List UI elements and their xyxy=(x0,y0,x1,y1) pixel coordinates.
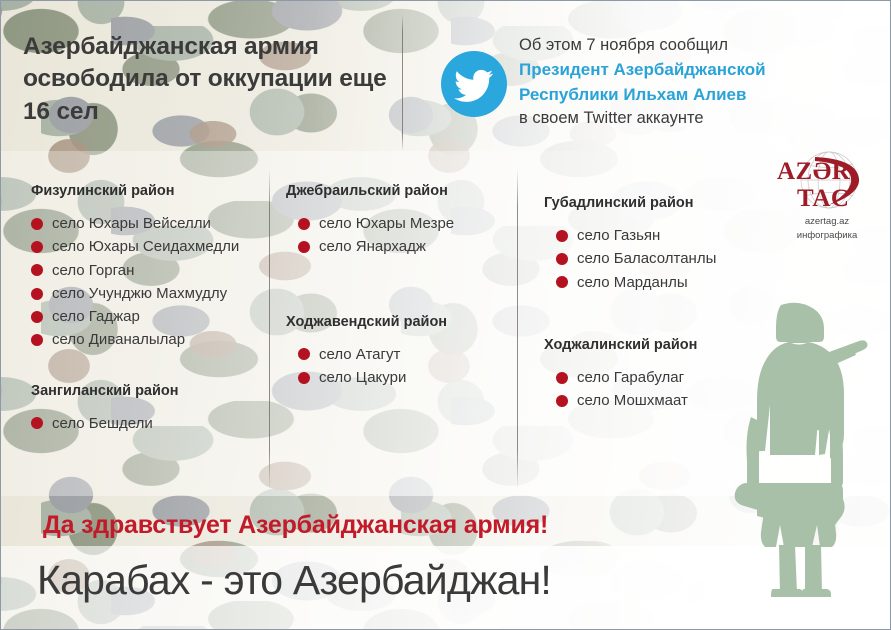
bullet-dot-icon xyxy=(31,218,43,230)
village-name: село Учунджю Махмудлу xyxy=(52,283,227,304)
tweet-highlight-line-2: Республики Ильхам Алиев xyxy=(519,83,869,108)
bullet-dot-icon xyxy=(298,348,310,360)
tweet-line-2: в своем Twitter аккаунте xyxy=(519,109,704,127)
bullet-dot-icon xyxy=(556,395,568,407)
bullet-dot-icon xyxy=(31,288,43,300)
village-name: село Газьян xyxy=(577,225,660,246)
village-list: село Бешдели xyxy=(31,413,269,434)
village-name: село Гаджар xyxy=(52,306,140,327)
village-list: село Юхары Мезре село Янархадж xyxy=(286,213,516,258)
list-item: село Атагут xyxy=(286,344,516,365)
district-block-zangilan: Зангиланский район село Бешдели xyxy=(31,383,269,434)
bullet-dot-icon xyxy=(31,311,43,323)
column-divider-2 xyxy=(517,169,518,489)
svg-text:TAC: TAC xyxy=(797,185,849,212)
bullet-dot-icon xyxy=(31,334,43,346)
list-item: село Гаджар xyxy=(31,306,269,327)
list-item: село Баласолтанлы xyxy=(544,248,784,269)
list-item: село Янархадж xyxy=(286,236,516,257)
village-name: село Гарабулаг xyxy=(577,367,684,388)
svg-text:AZƏR: AZƏR xyxy=(777,158,851,185)
village-name: село Диваналылар xyxy=(52,329,185,350)
district-block-jabrayil: Джебраильский район село Юхары Мезре сел… xyxy=(286,183,516,258)
village-name: село Цакури xyxy=(319,367,406,388)
list-item: село Горган xyxy=(31,260,269,281)
infographic-poster: Азербайджанская армия освободила от окку… xyxy=(0,0,891,630)
bullet-dot-icon xyxy=(298,372,310,384)
list-item: село Юхары Сеидахмедли xyxy=(31,236,269,257)
village-name: село Бешдели xyxy=(52,413,153,434)
village-name: село Атагут xyxy=(319,344,400,365)
district-title: Ходжавендский район xyxy=(286,314,516,330)
list-item: село Учунджю Махмудлу xyxy=(31,283,269,304)
district-title: Губадлинский район xyxy=(544,195,784,211)
list-item: село Юхары Мезре xyxy=(286,213,516,234)
district-column-1: Физулинский район село Юхары Вейселли се… xyxy=(31,183,269,438)
bullet-dot-icon xyxy=(31,264,43,276)
list-item: село Бешдели xyxy=(31,413,269,434)
bullet-dot-icon xyxy=(298,218,310,230)
bullet-dot-icon xyxy=(556,230,568,242)
village-name: село Горган xyxy=(52,260,134,281)
bullet-dot-icon xyxy=(556,276,568,288)
list-item: село Диваналылар xyxy=(31,329,269,350)
twitter-bird-icon xyxy=(438,48,510,120)
village-name: село Марданлы xyxy=(577,272,688,293)
village-name: село Юхары Вейселли xyxy=(52,213,211,234)
slogan-army: Да здравствует Азербайджанская армия! xyxy=(43,511,548,540)
village-list: село Газьян село Баласолтанлы село Марда… xyxy=(544,225,784,293)
column-divider-1 xyxy=(269,169,270,489)
logo-section-label: инфографика xyxy=(771,230,883,243)
bullet-dot-icon xyxy=(556,372,568,384)
list-item: село Марданлы xyxy=(544,272,784,293)
tweet-highlight-line-1: Президент Азербайджанской xyxy=(519,58,869,83)
village-name: село Юхары Сеидахмедли xyxy=(52,236,239,257)
soldier-silhouette xyxy=(723,297,873,597)
slogan-karabakh: Карабах - это Азербайджан! xyxy=(37,557,551,604)
district-title: Джебраильский район xyxy=(286,183,516,199)
list-item: село Газьян xyxy=(544,225,784,246)
district-block-khojavend: Ходжавендский район село Атагут село Цак… xyxy=(286,314,516,389)
bullet-dot-icon xyxy=(31,417,43,429)
district-title: Зангиланский район xyxy=(31,383,269,399)
logo-website: azertag.az xyxy=(771,216,883,229)
village-list: село Атагут село Цакури xyxy=(286,344,516,389)
village-name: село Юхары Мезре xyxy=(319,213,454,234)
bullet-dot-icon xyxy=(556,253,568,265)
village-name: село Янархадж xyxy=(319,236,426,257)
village-list: село Юхары Вейселли село Юхары Сеидахмед… xyxy=(31,213,269,351)
district-title: Физулинский район xyxy=(31,183,269,199)
azertac-logo-mark: AZƏR TAC xyxy=(771,149,883,215)
district-block-fizuli: Физулинский район село Юхары Вейселли се… xyxy=(31,183,269,351)
list-item: село Цакури xyxy=(286,367,516,388)
village-name: село Мошхмаат xyxy=(577,390,688,411)
page-title: Азербайджанская армия освободила от окку… xyxy=(23,31,393,128)
tweet-line-1: Об этом 7 ноября сообщил xyxy=(519,36,728,54)
header-divider xyxy=(402,15,403,151)
district-block-gubadli: Губадлинский район село Газьян село Бала… xyxy=(544,195,784,293)
village-name: село Баласолтанлы xyxy=(577,248,716,269)
azertac-logo: AZƏR TAC azertag.az инфографика xyxy=(771,149,883,243)
bullet-dot-icon xyxy=(31,241,43,253)
district-column-2: Джебраильский район село Юхары Мезре сел… xyxy=(286,183,516,392)
list-item: село Юхары Вейселли xyxy=(31,213,269,234)
tweet-source-text: Об этом 7 ноября сообщил Президент Азерб… xyxy=(519,34,869,131)
bullet-dot-icon xyxy=(298,241,310,253)
